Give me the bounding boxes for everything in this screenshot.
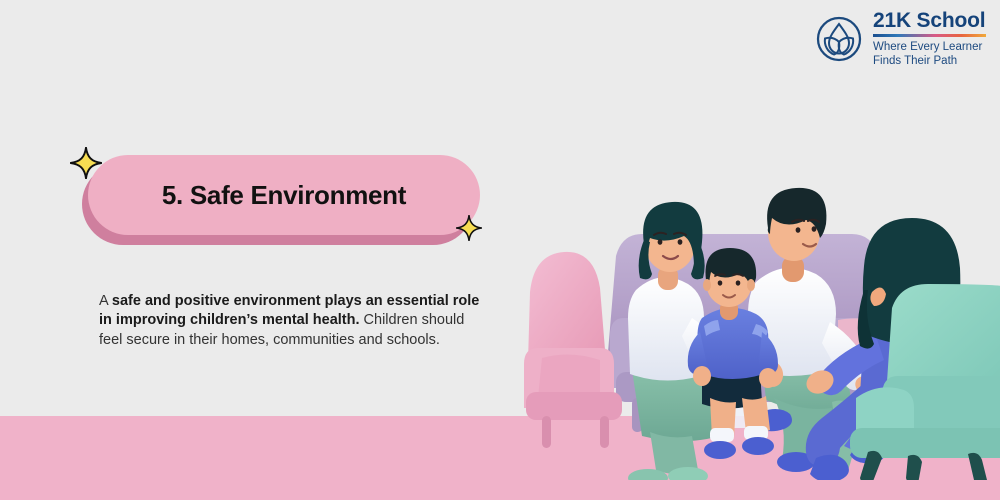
page-title: 5. Safe Environment <box>162 180 406 211</box>
slide-canvas: 21K School Where Every Learner Finds The… <box>0 0 1000 500</box>
body-paragraph: A safe and positive environment plays an… <box>99 292 491 351</box>
brand-logo: 21K School Where Every Learner Finds The… <box>814 10 986 68</box>
copy-lead: A <box>99 293 112 309</box>
lotus-logo-icon <box>814 14 864 64</box>
badge-body: 5. Safe Environment <box>88 155 480 235</box>
brand-gradient-rule <box>873 34 986 37</box>
brand-name: 21K School <box>873 10 986 31</box>
family-counselling-illustration <box>520 140 1000 480</box>
brand-text-block: 21K School Where Every Learner Finds The… <box>873 10 986 68</box>
brand-tagline: Where Every Learner Finds Their Path <box>873 40 986 68</box>
title-badge: 5. Safe Environment <box>82 155 474 241</box>
